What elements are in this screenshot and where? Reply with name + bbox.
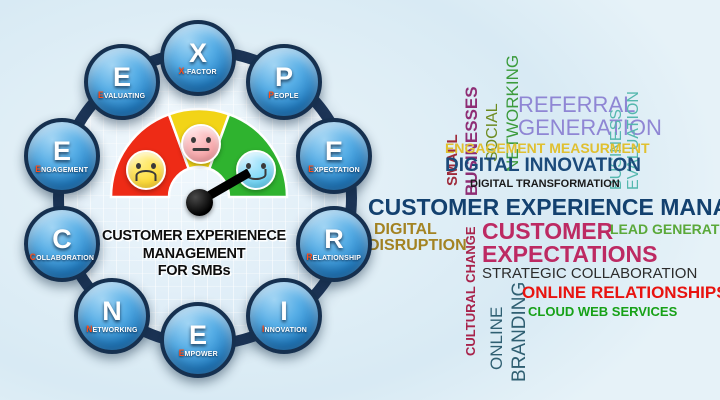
badge-word: X-FACTOR	[179, 66, 217, 76]
badge-letter: X	[189, 41, 207, 65]
badge-empower[interactable]: EEMPOWER	[160, 302, 236, 378]
caption-line-1: CUSTOMER EXPERIENECE	[86, 228, 302, 246]
badge-letter: E	[325, 139, 343, 163]
cloud-word: CULTURAL CHANGE	[464, 226, 477, 356]
cloud-word: CUSTOMER	[482, 220, 613, 243]
badge-letter: N	[102, 299, 122, 323]
badge-word: INNOVATION	[261, 324, 306, 334]
cloud-word: CUSTOMER EXPERIENCE MANAGEMENT	[368, 196, 720, 219]
badge-people[interactable]: PPEOPLE	[246, 44, 322, 120]
badge-word: NETWORKING	[86, 324, 137, 334]
cloud-word: STRATEGIC COLLABORATION	[482, 266, 697, 281]
badge-networking[interactable]: NNETWORKING	[74, 278, 150, 354]
infographic-canvas: CUSTOMER EXPERIENECE MANAGEMENT FOR SMBs…	[0, 0, 720, 400]
gauge-hub	[186, 189, 213, 216]
badge-word-rest: EOPLE	[275, 91, 300, 100]
badge-innovation[interactable]: IINNOVATION	[246, 278, 322, 354]
cloud-word: DISRUPTION	[368, 238, 467, 254]
badge-expectation[interactable]: EEXPECTATION	[296, 118, 372, 194]
caption-line-2: MANAGEMENT	[86, 246, 302, 264]
badge-evaluating[interactable]: EEVALUATING	[84, 44, 160, 120]
cloud-word: DIGITAL	[374, 222, 437, 238]
badge-letter: I	[280, 299, 288, 323]
badge-word: EVALUATING	[98, 90, 145, 100]
experience-wheel: CUSTOMER EXPERIENECE MANAGEMENT FOR SMBs…	[8, 6, 380, 396]
badge-word-rest: OLLABORATION	[36, 253, 94, 262]
badge-word-rest: ELATIONSHIP	[313, 253, 361, 262]
badge-letter: E	[113, 65, 131, 89]
badge-letter: R	[324, 227, 344, 251]
badge-word: ENGAGEMENT	[36, 164, 89, 174]
badge-word: EMPOWER	[178, 348, 217, 358]
cloud-word: DIGITAL INNOVATION	[445, 156, 641, 175]
badge-relationship[interactable]: RRELATIONSHIP	[296, 206, 372, 282]
badge-word-rest: NGAGEMENT	[41, 165, 88, 174]
badge-word-rest: VALUATING	[104, 91, 145, 100]
cloud-word: ONLINE	[488, 307, 505, 370]
badge-letter: C	[52, 227, 72, 251]
badge-letter: E	[189, 323, 207, 347]
neutral-face-icon	[181, 124, 221, 164]
badge-x-factor[interactable]: XX-FACTOR	[160, 20, 236, 96]
cloud-word: CLOUD WEB SERVICES	[528, 305, 677, 318]
word-cloud: SMALLBUSINESSESSOCIALNETWORKINGREFERRALG…	[360, 0, 720, 400]
badge-word: PEOPLE	[269, 90, 299, 100]
badge-letter: E	[53, 139, 71, 163]
cloud-word: DIGITAL TRANSFORMATION	[470, 179, 620, 190]
wheel-center-caption: CUSTOMER EXPERIENECE MANAGEMENT FOR SMBs	[86, 228, 302, 281]
cloud-word: LEAD GENERATION	[610, 222, 720, 236]
badge-word-rest: -FACTOR	[185, 67, 217, 76]
cloud-word: ONLINE RELATIONSHIPS	[522, 284, 720, 301]
badge-word: RELATIONSHIP	[307, 252, 362, 262]
cloud-word: EXPECTATIONS	[482, 243, 658, 266]
badge-word: EXPECTATION	[308, 164, 360, 174]
sad-face-icon	[126, 150, 166, 190]
badge-word-rest: MPOWER	[184, 349, 217, 358]
badge-word-rest: NNOVATION	[264, 325, 307, 334]
badge-word-rest: XPECTATION	[314, 165, 360, 174]
badge-engagement[interactable]: EENGAGEMENT	[24, 118, 100, 194]
badge-collaboration[interactable]: CCOLLABORATION	[24, 206, 100, 282]
cloud-word: ENGAGEMENT MEASURMENT	[445, 141, 650, 155]
badge-word-rest: ETWORKING	[93, 325, 138, 334]
badge-word: COLLABORATION	[30, 252, 94, 262]
badge-letter: P	[275, 65, 293, 89]
